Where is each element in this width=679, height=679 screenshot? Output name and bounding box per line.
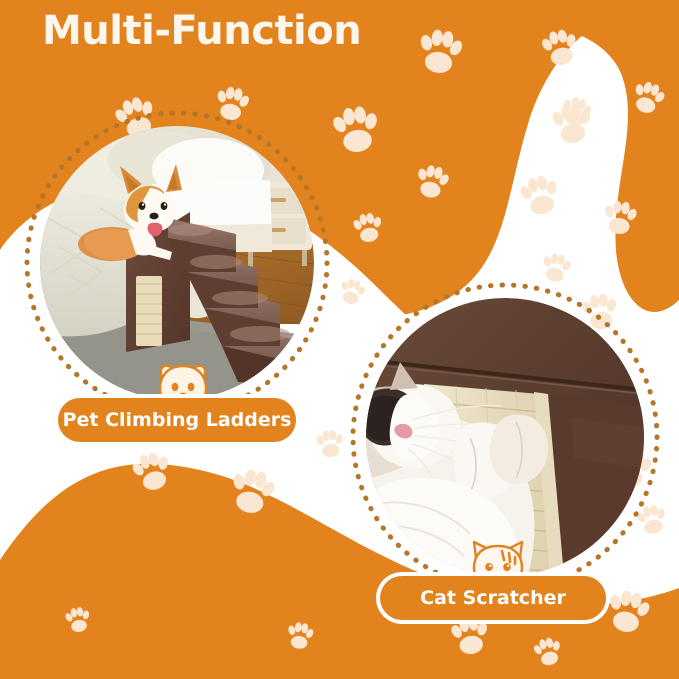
page-title: Multi-Function: [42, 8, 361, 54]
cat-scratcher-figure: Cat Scratcher: [344, 276, 666, 598]
feature-label-cat-scratcher[interactable]: Cat Scratcher: [380, 576, 606, 620]
feature-label-text: Pet Climbing Ladders: [63, 411, 292, 430]
product-feature-banner: Multi-Function: [0, 0, 679, 679]
pet-climbing-ladders-photo: [40, 126, 314, 400]
feature-label-pet-climbing-ladders[interactable]: Pet Climbing Ladders: [58, 398, 296, 442]
cat-scratcher-photo: [366, 298, 644, 576]
pet-climbing-ladders-figure: Pet Climbing Ladders: [18, 104, 336, 422]
feature-label-text: Cat Scratcher: [420, 589, 566, 608]
